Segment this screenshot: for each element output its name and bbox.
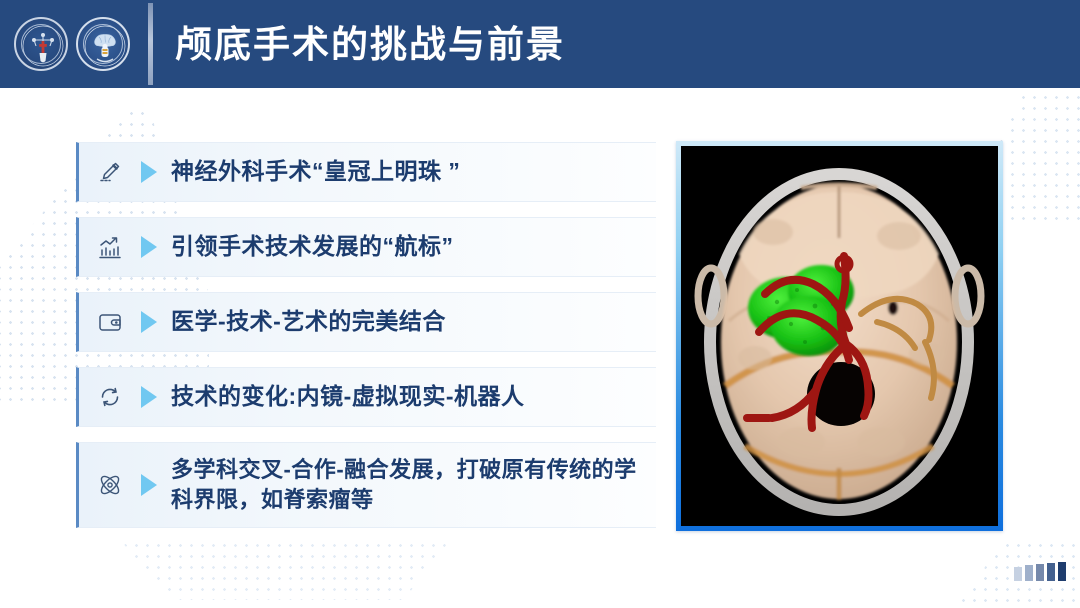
bullet-arrow-icon: [141, 386, 157, 408]
slide-header: 颅底手术的挑战与前景: [0, 0, 1080, 88]
list-item-label: 多学科交叉-合作-融合发展，打破原有传统的学科界限，如脊索瘤等: [171, 455, 656, 514]
decor-bar: [1014, 567, 1022, 581]
bullet-arrow-icon: [141, 311, 157, 333]
dot-pattern-bottom-left: [120, 540, 450, 600]
list-item-label: 技术的变化:内镜-虚拟现实-机器人: [171, 381, 524, 412]
list-item-label: 神经外科手术“皇冠上明珠 ”: [171, 156, 460, 187]
list-item[interactable]: 神经外科手术“皇冠上明珠 ”: [76, 142, 656, 202]
decor-bar: [1036, 564, 1044, 581]
decor-bar: [1025, 565, 1033, 581]
header-divider: [148, 3, 153, 85]
list-item[interactable]: 技术的变化:内镜-虚拟现实-机器人: [76, 367, 656, 427]
pen-icon: [93, 155, 127, 189]
wallet-icon: [93, 305, 127, 339]
bullet-arrow-icon: [141, 236, 157, 258]
page-title: 颅底手术的挑战与前景: [175, 26, 565, 63]
bullet-list: 神经外科手术“皇冠上明珠 ” 引领手术技术发展的“航标” 医学-技术-艺术的完美…: [76, 142, 656, 543]
list-item[interactable]: 多学科交叉-合作-融合发展，打破原有传统的学科界限，如脊索瘤等: [76, 442, 656, 528]
list-item-label: 医学-技术-艺术的完美结合: [171, 306, 446, 337]
list-item[interactable]: 引领手术技术发展的“航标”: [76, 217, 656, 277]
list-item-label: 引领手术技术发展的“航标”: [171, 231, 454, 262]
skull-base-3d-ct-reconstruction: [681, 146, 998, 526]
chart-up-icon: [93, 230, 127, 264]
hospital-emblem-icon: [14, 17, 68, 71]
bullet-arrow-icon: [141, 474, 157, 496]
bullet-arrow-icon: [141, 161, 157, 183]
figure-frame: [676, 141, 1003, 531]
decor-bars: [1014, 562, 1066, 581]
logo-group: [14, 17, 130, 71]
decor-bar: [1058, 562, 1066, 581]
neurosurgery-society-emblem-icon: [76, 17, 130, 71]
list-item[interactable]: 医学-技术-艺术的完美结合: [76, 292, 656, 352]
refresh-icon: [93, 380, 127, 414]
decor-bar: [1047, 563, 1055, 581]
atom-icon: [93, 468, 127, 502]
